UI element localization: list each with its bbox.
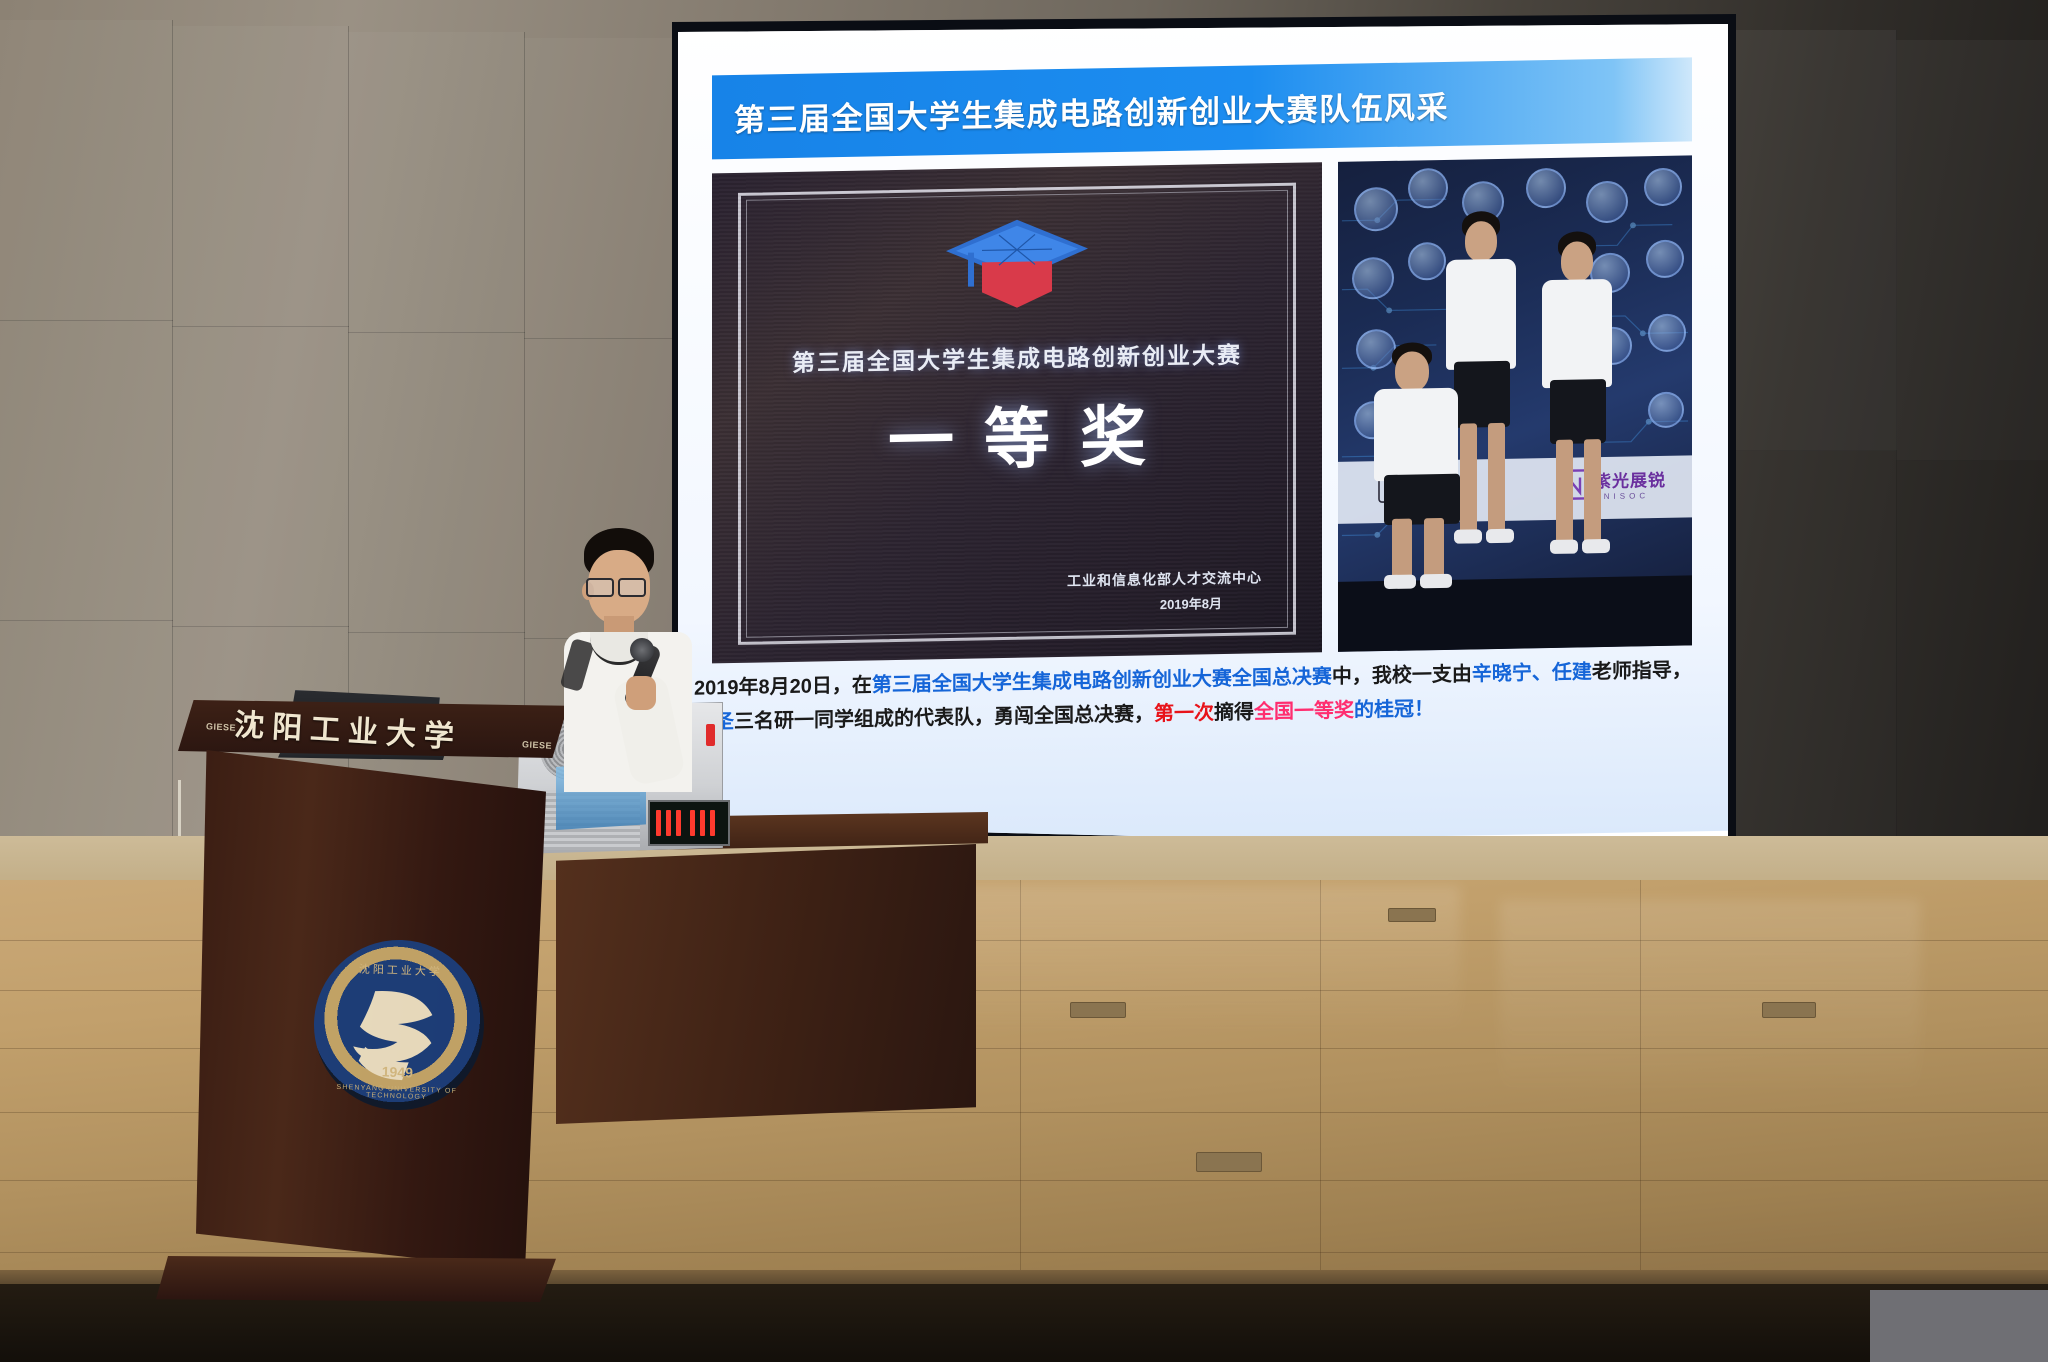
lectern-body: 沈阳工业大学 1949 SHENYANG UNIVERSITY OF TECHN… xyxy=(196,750,546,1270)
foreground-corner xyxy=(1870,1290,2048,1362)
slide-title-bar: 第三届全国大学生集成电路创新创业大赛队伍风采 xyxy=(712,57,1692,159)
certificate-image: 第三届全国大学生集成电路创新创业大赛 一等奖 工业和信息化部人才交流中心 201… xyxy=(712,162,1322,663)
floor-outlet-4 xyxy=(1196,1152,1262,1172)
slide-media-row: 第三届全国大学生集成电路创新创业大赛 一等奖 工业和信息化部人才交流中心 201… xyxy=(712,155,1692,663)
certificate-issuer: 工业和信息化部人才交流中心 xyxy=(1067,567,1262,591)
graduation-cap-icon xyxy=(942,214,1092,313)
presenter-glasses xyxy=(586,578,650,594)
caption-b: 中，我校一支由 xyxy=(1332,663,1472,688)
lectern-brand-left: GIESE xyxy=(206,721,236,733)
caption-f: 摘得 xyxy=(1214,701,1254,724)
presenter-hand xyxy=(626,676,656,710)
university-emblem: 沈阳工业大学 1949 SHENYANG UNIVERSITY OF TECHN… xyxy=(311,937,487,1113)
presenter xyxy=(560,528,770,858)
auditorium-scene: 第三届全国大学生集成电路创新创业大赛队伍风采 xyxy=(0,0,2048,1362)
floor-outlet-2 xyxy=(1070,1002,1126,1018)
caption-event: 第三届全国大学生集成电路创新创业大赛全国总决赛 xyxy=(872,666,1332,696)
slide-caption: 2019年8月20日，在第三届全国大学生集成电路创新创业大赛全国总决赛中，我校一… xyxy=(694,653,1708,740)
caption-first: 第一次 xyxy=(1154,702,1214,725)
stage-table xyxy=(548,812,988,1212)
caption-d: 导， xyxy=(1652,659,1692,682)
presentation-slide: 第三届全国大学生集成电路创新创业大赛队伍风采 xyxy=(678,5,1728,850)
lectern: 沈阳工业大学 GIESE GIESE 沈阳工业大学 1949 SHENYANG … xyxy=(178,700,568,1330)
floor-outlet-3 xyxy=(1762,1002,1816,1018)
certificate-prize: 一等奖 xyxy=(712,380,1322,487)
team-member-crouching xyxy=(1358,341,1488,593)
table-front-panel xyxy=(556,844,976,1124)
led-screen: 第三届全国大学生集成电路创新创业大赛队伍风采 xyxy=(672,14,1736,860)
screen-surface: 第三届全国大学生集成电路创新创业大赛队伍风采 xyxy=(678,24,1728,850)
caption-award: 全国一等奖 xyxy=(1254,700,1354,724)
lectern-brand-right: GIESE xyxy=(522,739,552,751)
floor-reflection-wall xyxy=(1500,900,1920,1100)
team-member-standing-right xyxy=(1534,231,1624,603)
certificate-competition: 第三届全国大学生集成电路创新创业大赛 xyxy=(712,334,1322,379)
caption-teachers: 辛晓宁、任建 xyxy=(1472,661,1592,685)
floor-outlet-1 xyxy=(1388,908,1436,922)
caption-c: 老师指 xyxy=(1592,660,1652,683)
lectern-base xyxy=(156,1256,556,1302)
certificate-date: 2019年8月 xyxy=(1160,593,1222,613)
caption-a: 在 xyxy=(852,674,872,696)
caption-e: 三名研一同学组成的代表队，勇闯全国总决赛， xyxy=(734,703,1154,733)
team-photo: 平头哥 紫光展锐 UNISOC xyxy=(1338,155,1692,651)
slide-title: 第三届全国大学生集成电路创新创业大赛队伍风采 xyxy=(734,81,1449,139)
caption-g: 的桂冠！ xyxy=(1354,698,1434,721)
microphone-head[interactable] xyxy=(630,638,654,662)
